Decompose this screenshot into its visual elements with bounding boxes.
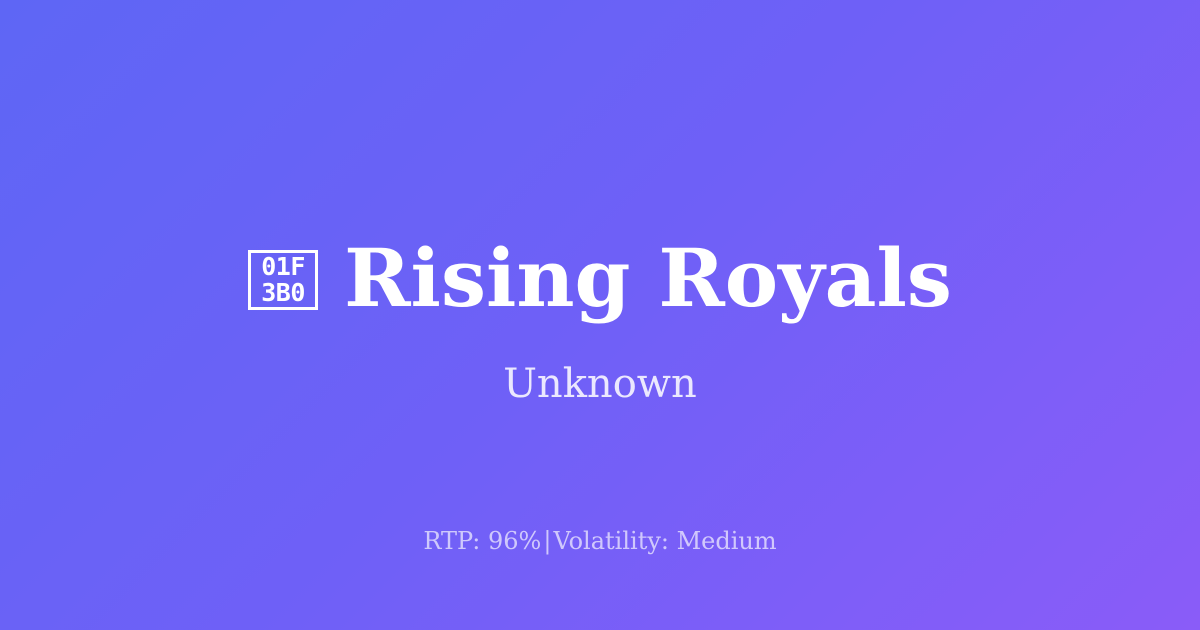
meta-separator: | [541, 527, 553, 555]
rtp-value: RTP: 96% [423, 527, 541, 555]
title-row: 01F 3B0 Rising Royals [0, 228, 1200, 328]
page-title: Rising Royals [344, 238, 952, 318]
og-share-card: 01F 3B0 Rising Royals Unknown RTP: 96%|V… [0, 0, 1200, 630]
tofu-codepoint-top: 01F [261, 254, 305, 280]
game-meta: RTP: 96%|Volatility: Medium [0, 527, 1200, 556]
provider-subtitle: Unknown [0, 362, 1200, 406]
tofu-codepoint-bottom: 3B0 [261, 280, 305, 306]
volatility-value: Volatility: Medium [553, 527, 776, 555]
slot-machine-emoji-icon: 01F 3B0 [248, 250, 318, 310]
